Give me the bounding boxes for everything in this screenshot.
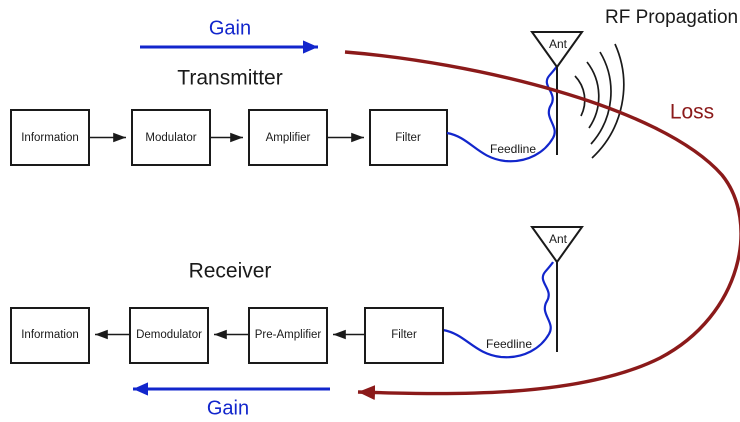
- antenna-tx-label: Ant: [549, 37, 568, 51]
- diagram-canvas: Gain Transmitter Information Modulator A…: [0, 0, 740, 422]
- block-amplifier-label: Amplifier: [266, 132, 311, 144]
- block-filter-tx-label: Filter: [395, 132, 421, 144]
- transmitter-gain-label: Gain: [209, 17, 251, 39]
- transmitter-feedline-group: Feedline: [447, 66, 557, 161]
- receiver-gain-label: Gain: [207, 397, 249, 419]
- block-information-tx-label: Information: [21, 132, 79, 144]
- block-pre-amplifier-label: Pre-Amplifier: [255, 329, 322, 341]
- rf-arc-2: [587, 62, 599, 128]
- receiver-feedline-group: Feedline: [443, 262, 553, 357]
- antenna-rx-group: Ant: [532, 227, 582, 352]
- radio-link-diagram: Gain Transmitter Information Modulator A…: [0, 0, 740, 422]
- loss-label: Loss: [670, 101, 714, 124]
- receiver-chain: Information Demodulator Pre-Amplifier Fi…: [11, 308, 443, 363]
- antenna-tx-group: Ant: [532, 32, 582, 155]
- antenna-rx-label: Ant: [549, 232, 568, 246]
- block-demodulator-label: Demodulator: [136, 329, 202, 341]
- receiver-section-title: Receiver: [189, 260, 272, 283]
- feedline-rx-label: Feedline: [486, 337, 532, 351]
- feedline-tx-label: Feedline: [490, 142, 536, 156]
- transmitter-gain-arrow-group: Gain: [140, 17, 318, 47]
- rf-propagation-arcs: RF Propagation: [575, 7, 738, 158]
- rf-arc-3: [591, 52, 611, 144]
- transmitter-chain: Information Modulator Amplifier Filter: [11, 110, 447, 165]
- transmitter-section-title: Transmitter: [177, 67, 282, 90]
- rf-arc-4: [592, 44, 624, 158]
- receiver-gain-arrow-group: Gain: [133, 389, 330, 419]
- block-information-rx-label: Information: [21, 329, 79, 341]
- rf-propagation-label: RF Propagation: [605, 7, 738, 28]
- block-filter-rx-label: Filter: [391, 329, 417, 341]
- block-modulator-label: Modulator: [145, 132, 196, 144]
